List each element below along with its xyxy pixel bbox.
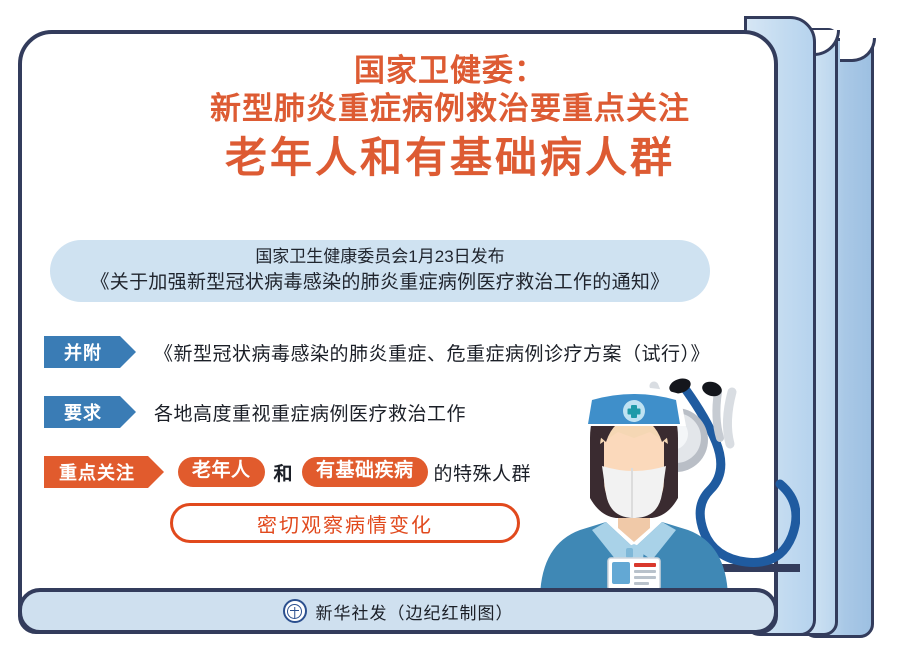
detail-row-attachment: 并附 《新型冠状病毒感染的肺炎重症、危重症病例诊疗方案（试行）》 [44,336,710,368]
xinhua-seal-icon [283,599,307,623]
detail-row-focus: 重点关注 老年人 和 有基础疾病 的特殊人群 [44,456,531,488]
row-text-focus: 老年人 和 有基础疾病 的特殊人群 [178,457,531,487]
headline-line-1: 国家卫健委： [0,52,900,90]
tag-requirement: 要求 [44,396,120,428]
headline-line-2: 新型肺炎重症病例救治要重点关注 [0,90,900,129]
infographic-poster: 国家卫健委： 新型肺炎重症病例救治要重点关注 老年人和有基础病人群 国家卫生健康… [0,0,900,655]
nurse-illustration [536,378,800,596]
tag-focus: 重点关注 [44,456,148,488]
subtitle-banner: 国家卫生健康委员会1月23日发布 《关于加强新型冠状病毒感染的肺炎重症病例医疗救… [50,240,710,302]
footer-credit: 新华社发（边纪红制图） [316,599,514,624]
pill-underlying-disease: 有基础疾病 [302,457,428,487]
pill-elderly: 老年人 [178,457,265,487]
footer-bar: 新华社发（边纪红制图） [18,588,778,634]
row-text-attachment: 《新型冠状病毒感染的肺炎重症、危重症病例诊疗方案（试行）》 [154,339,710,366]
subtitle-line-2: 《关于加强新型冠状病毒感染的肺炎重症病例医疗救治工作的通知》 [90,270,669,297]
row-text-requirement: 各地高度重视重症病例医疗救治工作 [154,399,466,426]
row-suffix-text: 的特殊人群 [434,459,532,486]
conjunction-text: 和 [271,459,297,486]
headline-line-3: 老年人和有基础病人群 [0,132,900,183]
detail-row-requirement: 要求 各地高度重视重症病例医疗救治工作 [44,396,466,428]
tag-attachment: 并附 [44,336,120,368]
page-title: 国家卫健委： 新型肺炎重症病例救治要重点关注 老年人和有基础病人群 [0,52,900,183]
capsule-monitor-condition: 密切观察病情变化 [170,503,520,543]
subtitle-line-1: 国家卫生健康委员会1月23日发布 [255,245,504,270]
